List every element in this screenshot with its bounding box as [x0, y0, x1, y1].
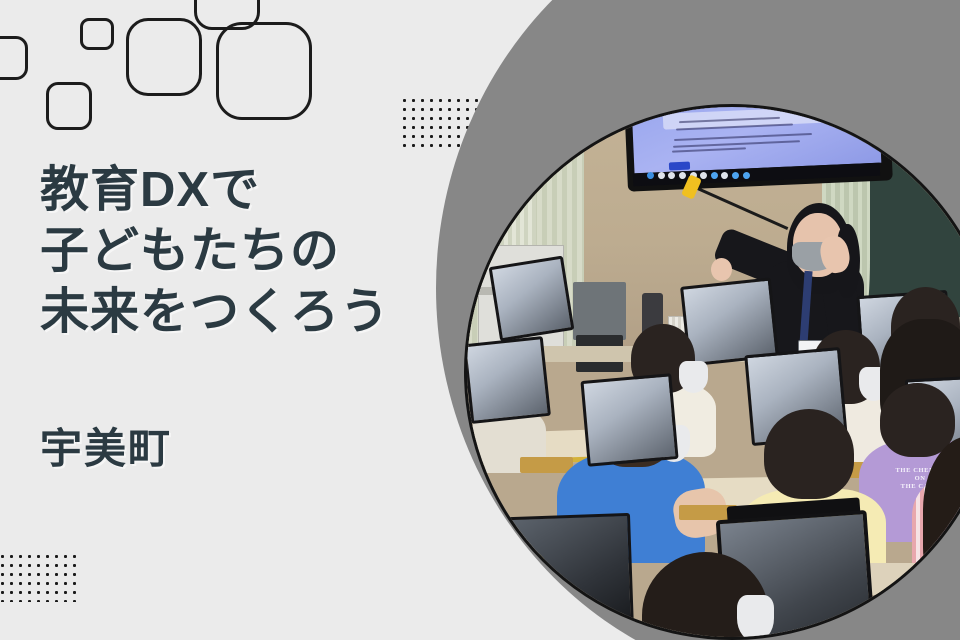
- taskbar-icon: [647, 172, 654, 179]
- taskbar-icon: [679, 172, 686, 179]
- equipment-monitor: [573, 282, 626, 340]
- text-block: 教育DXで 子どもたちの 未来をつくろう 宇美町: [40, 160, 470, 342]
- rounded-square-icon: [126, 18, 202, 96]
- student-head: [764, 409, 854, 499]
- taskbar-icon: [711, 172, 718, 179]
- taskbar-icon: [658, 172, 665, 179]
- rounded-square-icon: [80, 18, 114, 50]
- rounded-square-icon: [46, 82, 92, 130]
- face-mask-icon: [737, 595, 774, 637]
- wall-clock-face: [936, 137, 960, 156]
- photo-scene: THE CHERRY ON THE CAKE: [467, 107, 960, 637]
- student-head: [880, 383, 954, 457]
- laptop-icon: [580, 374, 678, 467]
- chair: [520, 457, 573, 473]
- rounded-square-icon: [0, 36, 28, 80]
- laptop-icon: [507, 513, 634, 635]
- taskbar-icon: [700, 172, 707, 179]
- taskbar-icon: [732, 172, 739, 179]
- dot-grid-icon: [0, 552, 80, 602]
- promotional-banner: THE CHERRY ON THE CAKE: [0, 0, 960, 640]
- rounded-square-icon: [216, 22, 312, 120]
- display-button: [669, 161, 691, 170]
- page-title: 教育DXで 子どもたちの 未来をつくろう: [40, 160, 470, 342]
- laptop-icon: [488, 255, 574, 341]
- laptop-icon: [467, 336, 551, 424]
- organization-name: 宇美町: [40, 415, 172, 476]
- teacher-hand: [711, 258, 732, 281]
- classroom-photo: THE CHERRY ON THE CAKE: [464, 104, 960, 640]
- taskbar-icon: [742, 172, 749, 179]
